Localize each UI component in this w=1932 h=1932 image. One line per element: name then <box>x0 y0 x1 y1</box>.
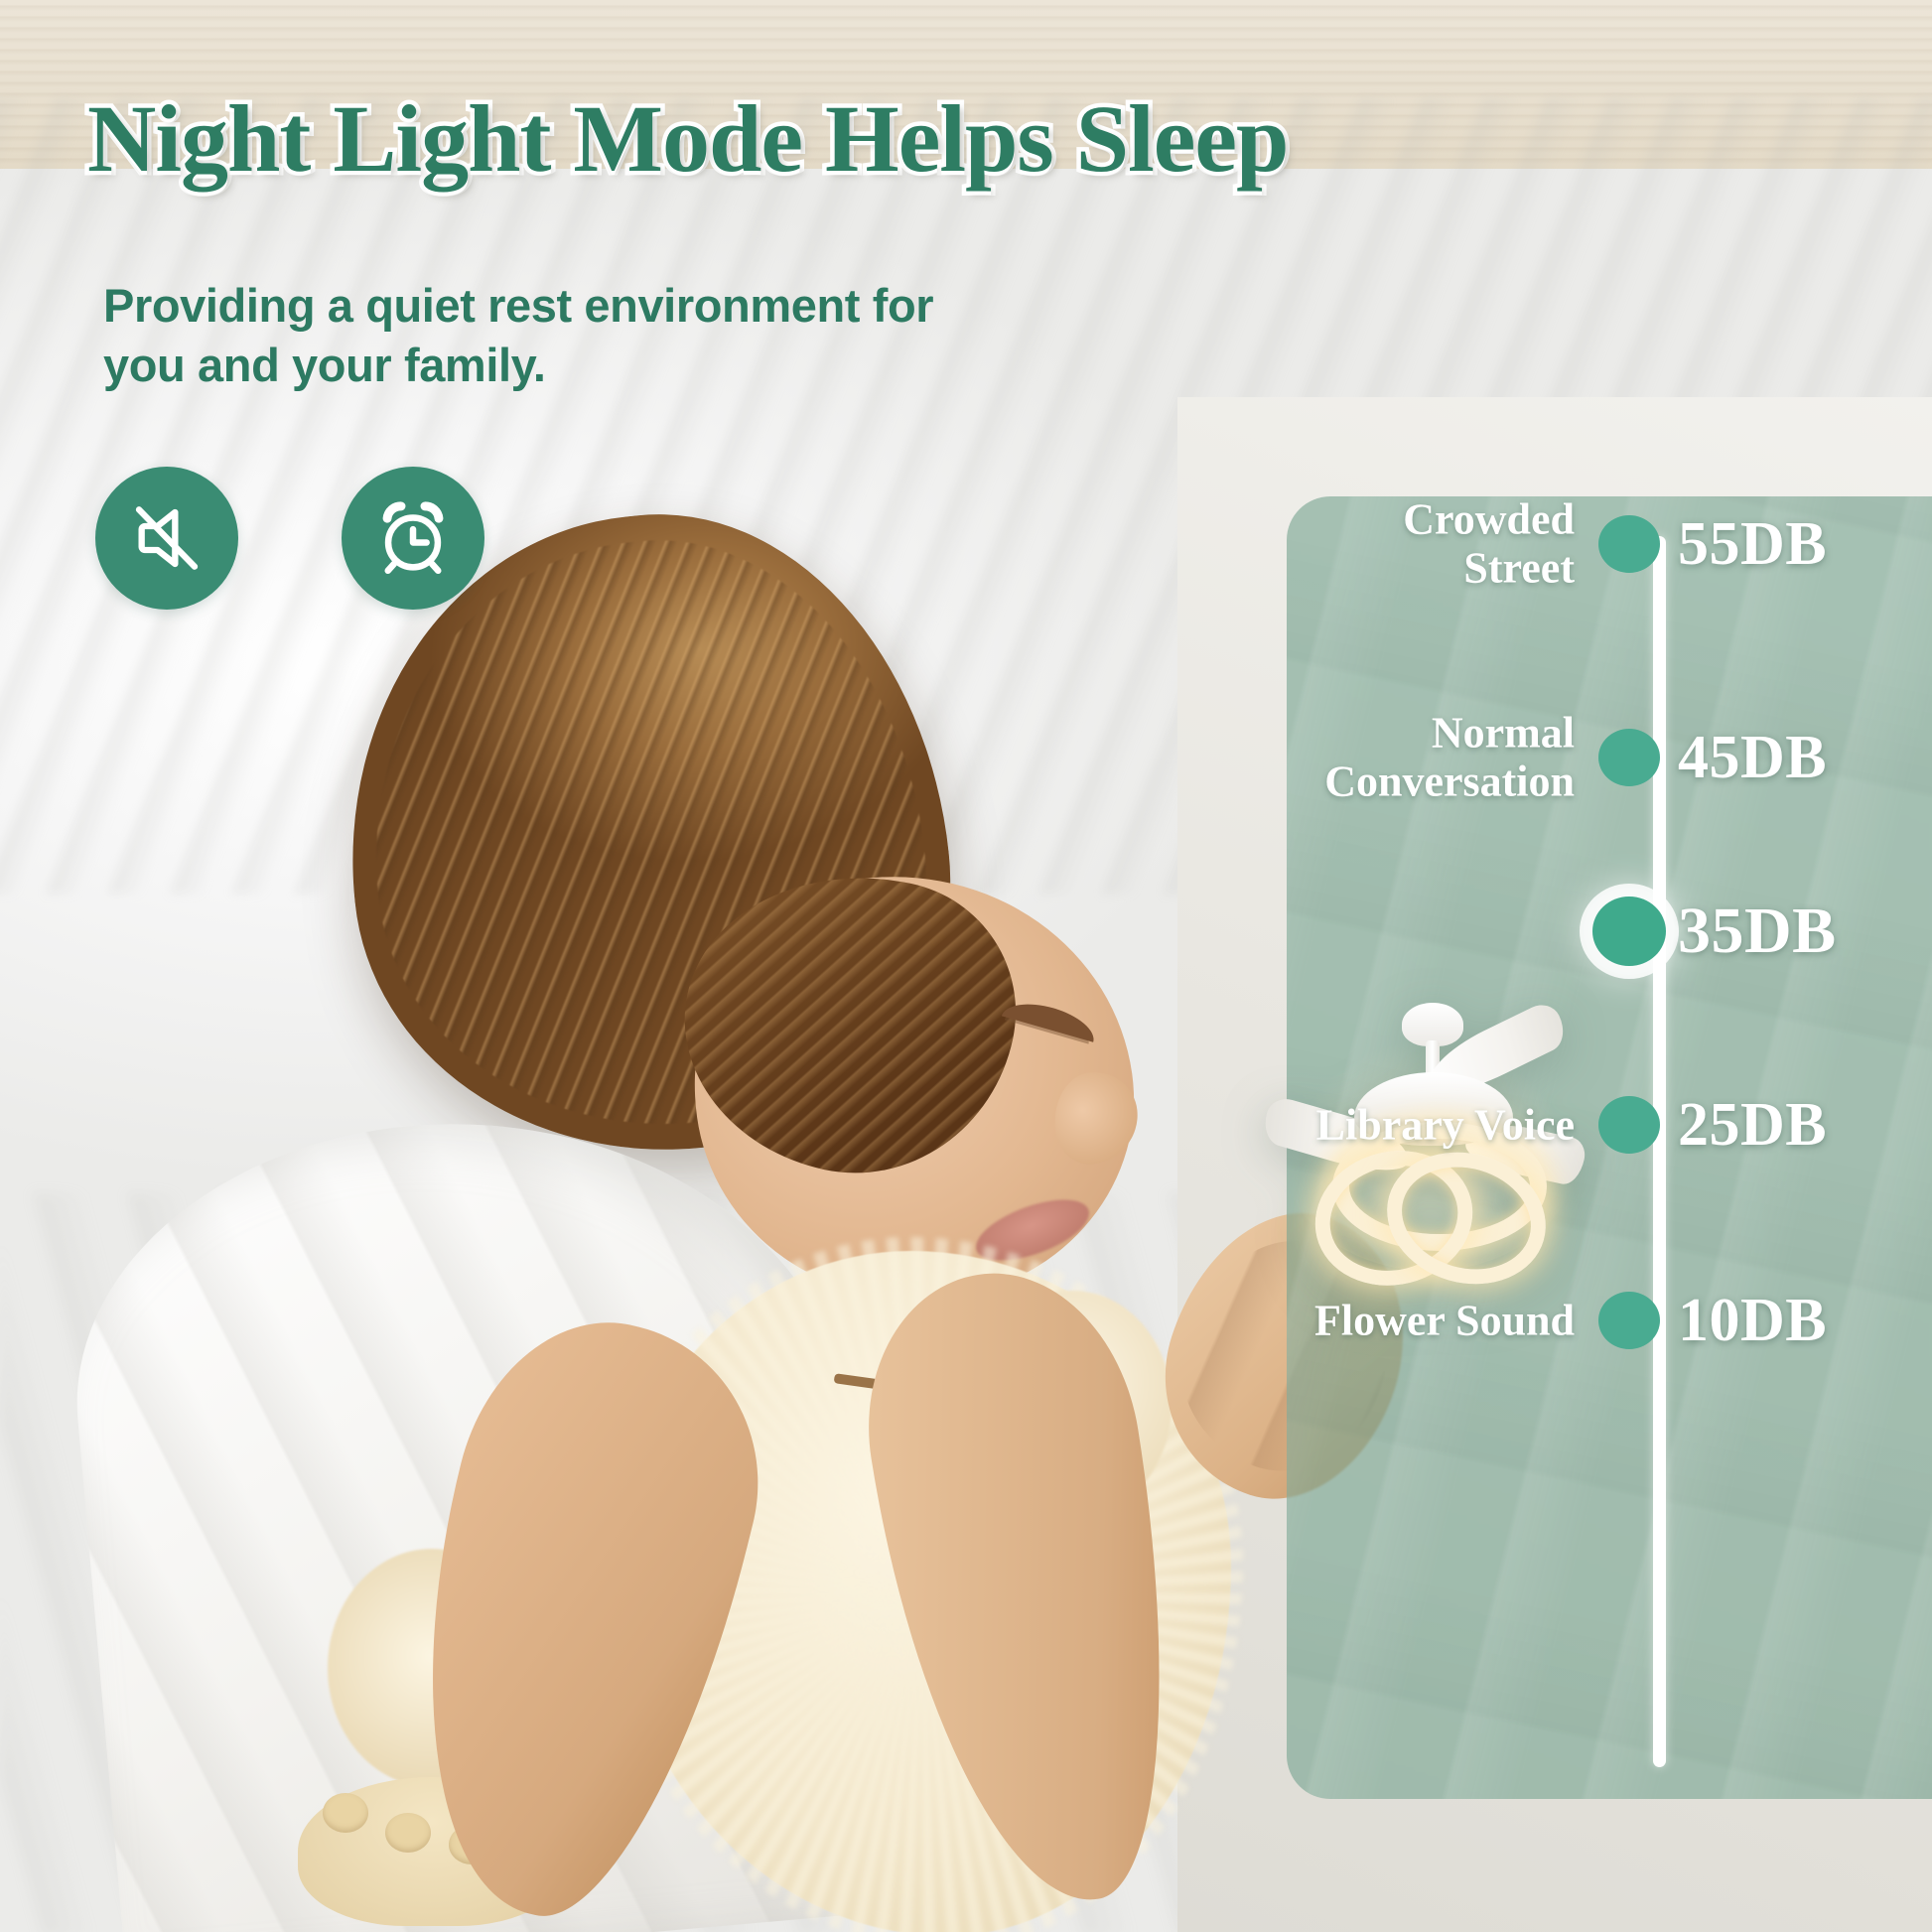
teddy-bear-toe <box>385 1813 431 1853</box>
decibel-row-value: 55DB <box>1678 513 1827 575</box>
decibel-row-marker-active <box>1592 897 1666 966</box>
decibel-row-label: Library Voice <box>1316 1100 1575 1149</box>
teddy-bear-toe <box>323 1793 368 1833</box>
decibel-axis-line <box>1653 536 1666 1767</box>
feature-icon-row <box>95 467 484 610</box>
decibel-row-label: Normal Conversation <box>1324 709 1575 807</box>
alarm-clock-icon-badge <box>342 467 484 610</box>
decibel-row-value: 35DB <box>1678 898 1837 964</box>
decibel-row-label: Crowded Street <box>1287 495 1575 594</box>
mute-icon-badge <box>95 467 238 610</box>
alarm-clock-icon <box>372 497 454 579</box>
decibel-row-marker <box>1598 1292 1660 1349</box>
page-subtitle: Providing a quiet rest environment for y… <box>103 276 997 395</box>
page-title: Night Light Mode Helps Sleep <box>87 91 1288 187</box>
decibel-row-value: 25DB <box>1678 1094 1827 1156</box>
decibel-row-value: 10DB <box>1678 1290 1827 1351</box>
mute-icon <box>127 498 207 578</box>
decibel-row-value: 45DB <box>1678 727 1827 788</box>
decibel-row-label: Flower Sound <box>1314 1296 1575 1344</box>
decibel-row-marker <box>1598 729 1660 786</box>
decibel-row-marker <box>1598 515 1660 573</box>
product-feature-banner: Night Light Mode Helps Sleep Providing a… <box>0 0 1932 1932</box>
decibel-row-marker <box>1598 1096 1660 1154</box>
